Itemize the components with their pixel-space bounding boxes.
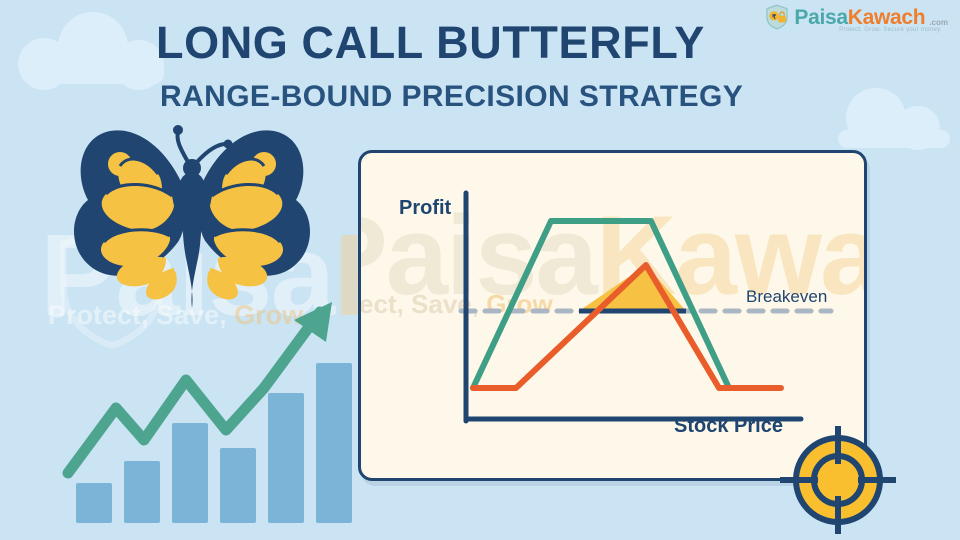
bar-3 <box>172 423 208 523</box>
growth-bar-chart-icon <box>58 268 358 523</box>
shield-lock-icon: ₹ <box>764 4 790 30</box>
brand-tagline: Protect. Grow. Secure your money. <box>839 27 942 33</box>
x-axis-label: Stock Price <box>674 415 783 438</box>
svg-text:₹: ₹ <box>772 14 776 21</box>
breakeven-label: Breakeven <box>746 287 827 307</box>
cloud-top-right <box>838 88 960 140</box>
bar-2 <box>124 461 160 523</box>
bar-1 <box>76 483 112 523</box>
cloud-top-left <box>18 12 170 74</box>
bar-4 <box>220 448 256 523</box>
page-subtitle: RANGE-BOUND PRECISION STRATEGY <box>160 80 743 114</box>
crosshair-target-icon <box>778 424 898 536</box>
brand-name: PaisaKawach <box>794 7 925 28</box>
page-title: LONG CALL BUTTERFLY <box>156 17 705 69</box>
infographic-canvas: PaisaKawach.com Protect, Save, Grow LONG… <box>0 0 960 540</box>
bar-5 <box>268 393 304 523</box>
y-axis-label: Profit <box>399 197 451 220</box>
bar-6 <box>316 363 352 523</box>
